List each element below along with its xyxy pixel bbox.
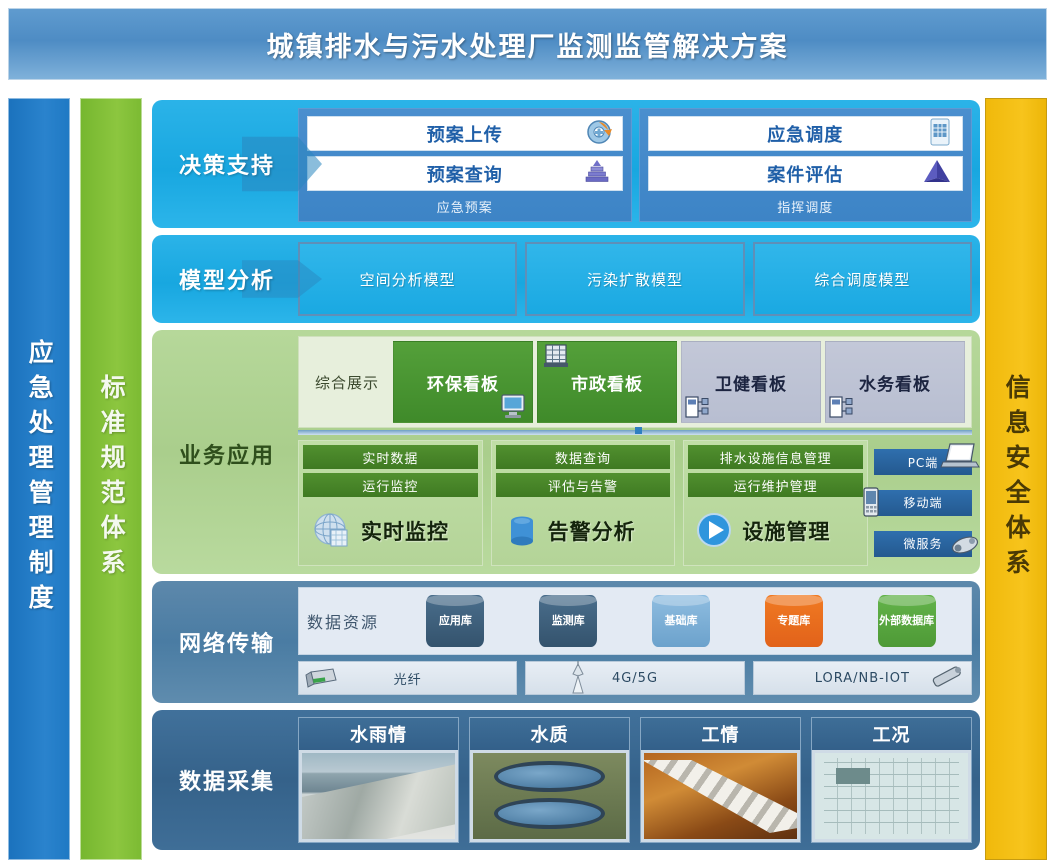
acquisition-items: 水雨情 水质 工情 xyxy=(298,717,972,843)
lora-device-icon xyxy=(927,662,967,694)
client-pc-label: PC端 xyxy=(908,454,939,471)
play-icon xyxy=(694,510,736,552)
decision-group-emergency-plan-caption: 应急预案 xyxy=(307,196,623,219)
dashboard-caption: 综合展示 xyxy=(303,341,391,423)
dashboard-card-municipal[interactable]: 市政看板 xyxy=(537,341,677,423)
business-tag-realtime-data[interactable]: 实时数据 xyxy=(303,445,478,469)
acquisition-card-water-quality-label: 水质 xyxy=(531,721,569,747)
data-resource-caption: 数据资源 xyxy=(307,609,399,633)
business-tag-data-query-label: 数据查询 xyxy=(555,448,611,467)
sedimentation-tank-photo xyxy=(473,753,626,839)
canal-waterway-photo xyxy=(302,753,455,839)
acquisition-card-water-quality[interactable]: 水质 xyxy=(469,717,630,843)
layer-model-analysis-label: 模型分析 xyxy=(152,235,302,323)
dashboard-separator xyxy=(298,430,972,435)
acquisition-card-rainfall-head: 水雨情 xyxy=(299,718,458,750)
business-column-realtime: 实时数据 运行监控 xyxy=(298,440,483,566)
pyramid-steps-icon xyxy=(582,159,612,189)
transmission-fiber[interactable]: 光纤 xyxy=(298,661,517,695)
transmission-lora-nbiot[interactable]: LORA/NB-IOT xyxy=(753,661,972,695)
dashboard-card-health-label: 卫健看板 xyxy=(715,370,787,395)
model-item-pollution-diffusion[interactable]: 污染扩散模型 xyxy=(525,242,744,316)
database-application-label: 应用库 xyxy=(439,615,472,628)
acquisition-card-water-quality-head: 水质 xyxy=(470,718,629,750)
acquisition-card-rainfall-label: 水雨情 xyxy=(350,721,407,747)
layer-decision-support: 决策支持 预案上传 xyxy=(152,100,980,228)
transmission-lora-nbiot-label: LORA/NB-IOT xyxy=(815,671,910,686)
database-monitoring[interactable]: 监测库 xyxy=(539,595,597,647)
dashboard-card-environment[interactable]: 环保看板 xyxy=(393,341,533,423)
flowchart-icon xyxy=(829,395,853,419)
business-columns: 实时数据 运行监控 xyxy=(298,440,868,566)
dashboard-strip: 综合展示 环保看板 市政看板 xyxy=(298,336,972,428)
business-tag-realtime-data-label: 实时数据 xyxy=(362,448,418,467)
business-tag-drainage-facility-info-label: 排水设施信息管理 xyxy=(720,448,832,467)
side-column-emergency-label: 应急处理管理制度 xyxy=(26,339,52,619)
flowchart-icon xyxy=(685,395,709,419)
layer-business-application: 业务应用 综合展示 环保看板 市政看板 xyxy=(152,330,980,574)
acquisition-card-works-status-label: 工情 xyxy=(702,721,740,747)
model-item-pollution-diffusion-label: 污染扩散模型 xyxy=(587,269,683,290)
monitor-icon xyxy=(498,392,528,420)
acquisition-card-operating-condition-label: 工况 xyxy=(873,721,911,747)
client-microservice[interactable]: 微服务 xyxy=(874,531,972,557)
decision-item-plan-query-label: 预案查询 xyxy=(427,161,503,187)
acquisition-card-works-status-head: 工情 xyxy=(641,718,800,750)
business-feature-facility-management-label: 设施管理 xyxy=(742,516,830,546)
business-tag-data-query[interactable]: 数据查询 xyxy=(496,445,671,469)
calendar-grid-icon xyxy=(928,118,952,150)
decision-item-plan-query[interactable]: 预案查询 xyxy=(307,156,623,191)
database-thematic-label: 专题库 xyxy=(777,615,810,628)
database-external[interactable]: 外部数据库 xyxy=(878,595,936,647)
decision-group-emergency-plan: 预案上传 预案查询 xyxy=(298,108,632,222)
model-item-spatial-label: 空间分析模型 xyxy=(360,269,456,290)
business-tag-operation-monitoring[interactable]: 运行监控 xyxy=(303,473,478,497)
pyramid-solid-icon xyxy=(922,158,952,190)
pipeline-trench-photo xyxy=(644,753,797,839)
business-feature-alarm-analysis-label: 告警分析 xyxy=(548,516,636,546)
decision-item-case-assessment[interactable]: 案件评估 xyxy=(648,156,964,191)
data-resource-strip: 数据资源 应用库 监测库 基础库 专题库 外部数据库 xyxy=(298,587,972,655)
client-mobile-label: 移动端 xyxy=(903,494,942,511)
side-column-emergency-management: 应急处理管理制度 xyxy=(8,98,70,860)
acquisition-card-works-status[interactable]: 工情 xyxy=(640,717,801,843)
database-icon xyxy=(502,509,542,553)
diagram-title-bar: 城镇排水与污水处理厂监测监管解决方案 xyxy=(8,8,1047,80)
business-tag-maintenance-management-label: 运行维护管理 xyxy=(734,476,818,495)
decision-item-case-assessment-label: 案件评估 xyxy=(767,161,843,187)
layer-model-analysis: 模型分析 空间分析模型 污染扩散模型 综合调度模型 xyxy=(152,235,980,323)
transmission-fiber-label: 光纤 xyxy=(394,669,422,688)
dashboard-card-environment-label: 环保看板 xyxy=(427,370,499,395)
fiber-device-icon xyxy=(305,665,339,691)
decision-group-command-dispatch-caption: 指挥调度 xyxy=(648,196,964,219)
database-thematic[interactable]: 专题库 xyxy=(765,595,823,647)
layer-decision-support-label: 决策支持 xyxy=(152,100,302,228)
laptop-icon xyxy=(940,441,980,473)
database-external-label: 外部数据库 xyxy=(879,615,934,628)
side-column-standards: 标准规范体系 xyxy=(80,98,142,860)
decision-group-command-dispatch: 应急调度 xyxy=(639,108,973,222)
decision-item-plan-upload-label: 预案上传 xyxy=(427,121,503,147)
solution-architecture-diagram: 城镇排水与污水处理厂监测监管解决方案 应急处理管理制度 标准规范体系 信息安全体… xyxy=(0,0,1055,868)
database-application[interactable]: 应用库 xyxy=(426,595,484,647)
business-tag-maintenance-management[interactable]: 运行维护管理 xyxy=(688,473,863,497)
building-icon xyxy=(542,343,570,371)
decision-item-plan-upload[interactable]: 预案上传 xyxy=(307,116,623,151)
transmission-4g5g-label: 4G/5G xyxy=(612,671,658,686)
client-endpoints: PC端 移动端 xyxy=(874,442,972,564)
side-column-security-label: 信息安全体系 xyxy=(1003,374,1029,584)
model-item-spatial[interactable]: 空间分析模型 xyxy=(298,242,517,316)
transmission-row: 光纤 4G/5G LORA/NB-IOT xyxy=(298,661,972,695)
dashboard-card-municipal-label: 市政看板 xyxy=(571,370,643,395)
page-title: 城镇排水与污水处理厂监测监管解决方案 xyxy=(267,25,789,64)
model-item-integrated-dispatch[interactable]: 综合调度模型 xyxy=(753,242,972,316)
antenna-tower-icon xyxy=(566,660,590,696)
business-feature-realtime-monitoring-label: 实时监控 xyxy=(361,516,449,546)
business-tag-operation-monitoring-label: 运行监控 xyxy=(362,476,418,495)
model-item-integrated-dispatch-label: 综合调度模型 xyxy=(814,269,910,290)
layer-data-acquisition-label: 数据采集 xyxy=(152,710,302,850)
side-column-information-security: 信息安全体系 xyxy=(985,98,1047,860)
business-tag-assessment-alarm-label: 评估与告警 xyxy=(548,476,618,495)
layer-network-transmission: 网络传输 数据资源 应用库 监测库 基础库 专题库 xyxy=(152,581,980,703)
architecture-layer-stack: 决策支持 预案上传 xyxy=(152,100,980,857)
layer-data-acquisition: 数据采集 水雨情 水质 xyxy=(152,710,980,850)
business-feature-facility-management[interactable]: 设施管理 xyxy=(688,501,863,561)
client-mobile[interactable]: 移动端 xyxy=(874,490,972,516)
mobile-icon xyxy=(860,486,882,518)
database-foundation-label: 基础库 xyxy=(664,615,697,628)
database-monitoring-label: 监测库 xyxy=(552,615,585,628)
acquisition-card-rainfall[interactable]: 水雨情 xyxy=(298,717,459,843)
business-tag-assessment-alarm[interactable]: 评估与告警 xyxy=(496,473,671,497)
service-device-icon xyxy=(948,529,982,557)
dashboard-card-health[interactable]: 卫健看板 xyxy=(681,341,821,423)
client-microservice-label: 微服务 xyxy=(903,535,942,552)
layer-network-transmission-label: 网络传输 xyxy=(152,581,302,703)
transmission-4g5g[interactable]: 4G/5G xyxy=(525,661,744,695)
globe-icon xyxy=(309,508,355,554)
business-feature-realtime-monitoring[interactable]: 实时监控 xyxy=(303,501,478,561)
business-feature-alarm-analysis[interactable]: 告警分析 xyxy=(496,501,671,561)
decision-item-emergency-dispatch[interactable]: 应急调度 xyxy=(648,116,964,151)
decision-item-emergency-dispatch-label: 应急调度 xyxy=(767,121,843,147)
scada-diagram-photo xyxy=(815,753,968,839)
business-column-facility: 排水设施信息管理 运行维护管理 设施管理 xyxy=(683,440,868,566)
dashboard-card-water-affairs[interactable]: 水务看板 xyxy=(825,341,965,423)
side-column-standards-label: 标准规范体系 xyxy=(98,374,124,584)
acquisition-card-operating-condition-head: 工况 xyxy=(812,718,971,750)
business-column-alarm: 数据查询 评估与告警 告警分析 xyxy=(491,440,676,566)
dashboard-card-water-affairs-label: 水务看板 xyxy=(859,370,931,395)
layer-business-application-label: 业务应用 xyxy=(152,404,302,504)
business-tag-drainage-facility-info[interactable]: 排水设施信息管理 xyxy=(688,445,863,469)
database-foundation[interactable]: 基础库 xyxy=(652,595,710,647)
acquisition-card-operating-condition[interactable]: 工况 xyxy=(811,717,972,843)
cycle-icon xyxy=(586,119,612,149)
client-pc[interactable]: PC端 xyxy=(874,449,972,475)
